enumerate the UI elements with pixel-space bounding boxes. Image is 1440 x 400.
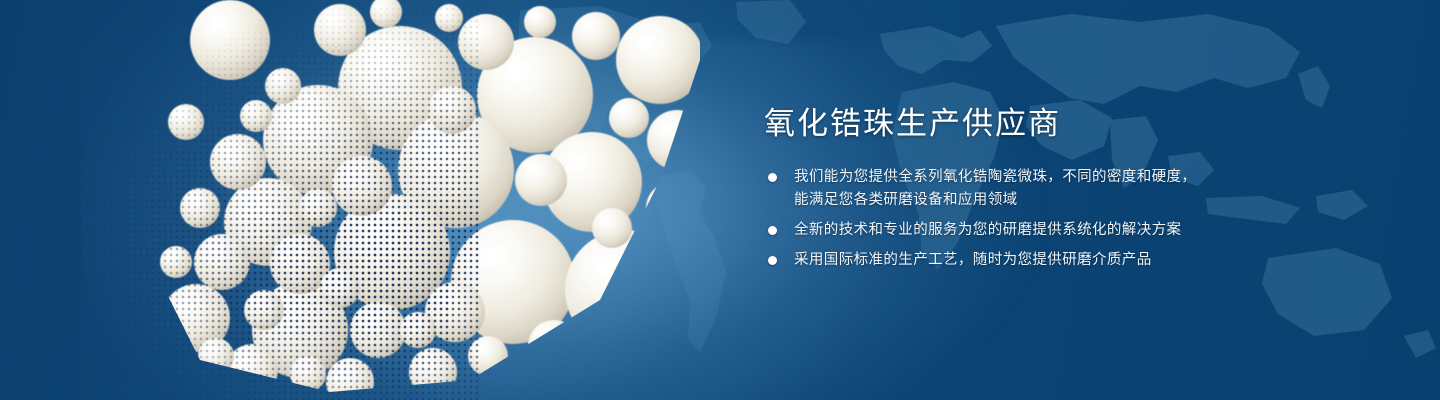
feature-text: 我们能为您提供全系列氧化锆陶瓷微珠，不同的密度和硬度， 能满足您各类研磨设备和应…: [794, 166, 1196, 212]
page-title: 氧化锆珠生产供应商: [764, 104, 1402, 144]
feature-text: 采用国际标准的生产工艺，随时为您提供研磨介质产品: [794, 249, 1152, 272]
banner-copy: 氧化锆珠生产供应商 我们能为您提供全系列氧化锆陶瓷微珠，不同的密度和硬度， 能满…: [762, 104, 1402, 279]
bullet-dot-icon: [768, 226, 777, 235]
halftone-edge-lower: [150, 210, 450, 400]
list-item: 采用国际标准的生产工艺，随时为您提供研磨介质产品: [762, 249, 1402, 272]
feature-list: 我们能为您提供全系列氧化锆陶瓷微珠，不同的密度和硬度， 能满足您各类研磨设备和应…: [762, 166, 1402, 272]
feature-text: 全新的技术和专业的服务为您的研磨提供系统化的解决方案: [794, 219, 1181, 242]
promo-banner: 氧化锆珠生产供应商 我们能为您提供全系列氧化锆陶瓷微珠，不同的密度和硬度， 能满…: [0, 0, 1440, 400]
list-item: 我们能为您提供全系列氧化锆陶瓷微珠，不同的密度和硬度， 能满足您各类研磨设备和应…: [762, 166, 1402, 212]
bullet-dot-icon: [768, 256, 777, 265]
list-item: 全新的技术和专业的服务为您的研磨提供系统化的解决方案: [762, 219, 1402, 242]
bullet-dot-icon: [768, 173, 777, 182]
